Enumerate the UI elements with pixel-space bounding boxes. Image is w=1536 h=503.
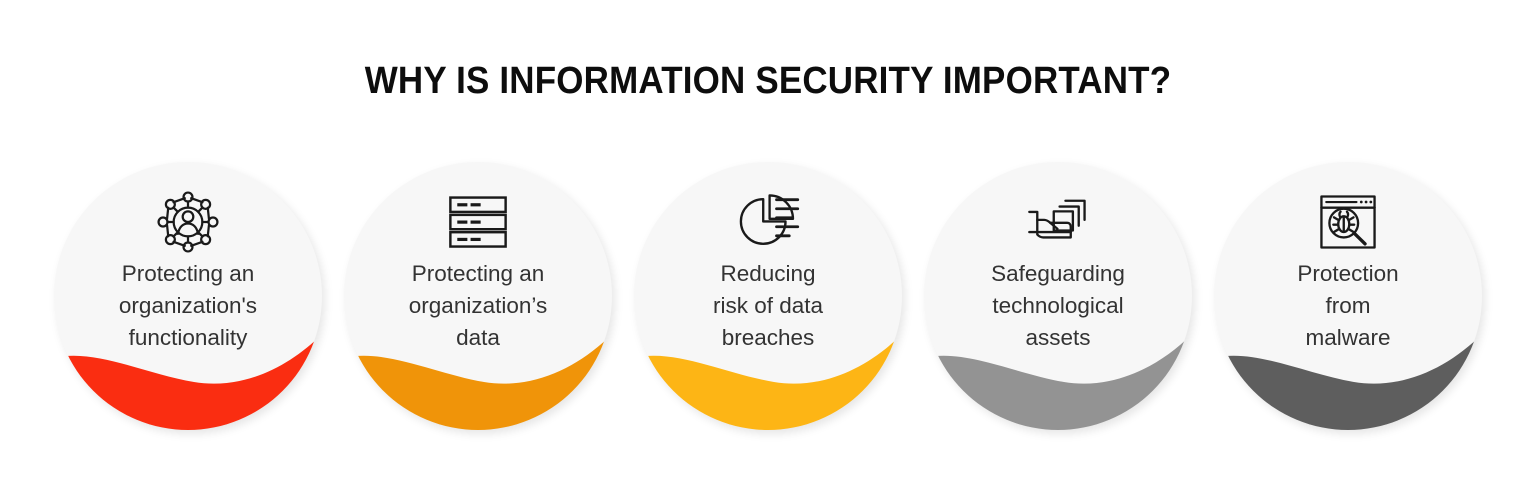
infographic-poster: WHY IS INFORMATION SECURITY IMPORTANT?: [0, 0, 1536, 503]
card-reducing-breaches[interactable]: Reducing risk of data breaches: [634, 162, 902, 430]
hand-holding-layers-icon: [924, 184, 1192, 260]
card-safeguarding-assets[interactable]: Safeguarding technological assets: [924, 162, 1192, 430]
card-label: Protecting an organization's functionali…: [81, 258, 295, 354]
card-label: Protection from malware: [1241, 258, 1455, 354]
server-rack-icon: [344, 184, 612, 260]
network-user-icon: [54, 184, 322, 260]
card-protecting-data[interactable]: Protecting an organization’s data: [344, 162, 612, 430]
card-label: Reducing risk of data breaches: [661, 258, 875, 354]
page-title: WHY IS INFORMATION SECURITY IMPORTANT?: [61, 60, 1474, 103]
card-row: Protecting an organization's functionali…: [0, 162, 1536, 452]
card-label: Safeguarding technological assets: [951, 258, 1165, 354]
card-protection-malware[interactable]: Protection from malware: [1214, 162, 1482, 430]
pie-chart-report-icon: [634, 184, 902, 260]
bug-scan-window-icon: [1214, 184, 1482, 260]
card-label: Protecting an organization’s data: [371, 258, 585, 354]
card-protecting-functionality[interactable]: Protecting an organization's functionali…: [54, 162, 322, 430]
